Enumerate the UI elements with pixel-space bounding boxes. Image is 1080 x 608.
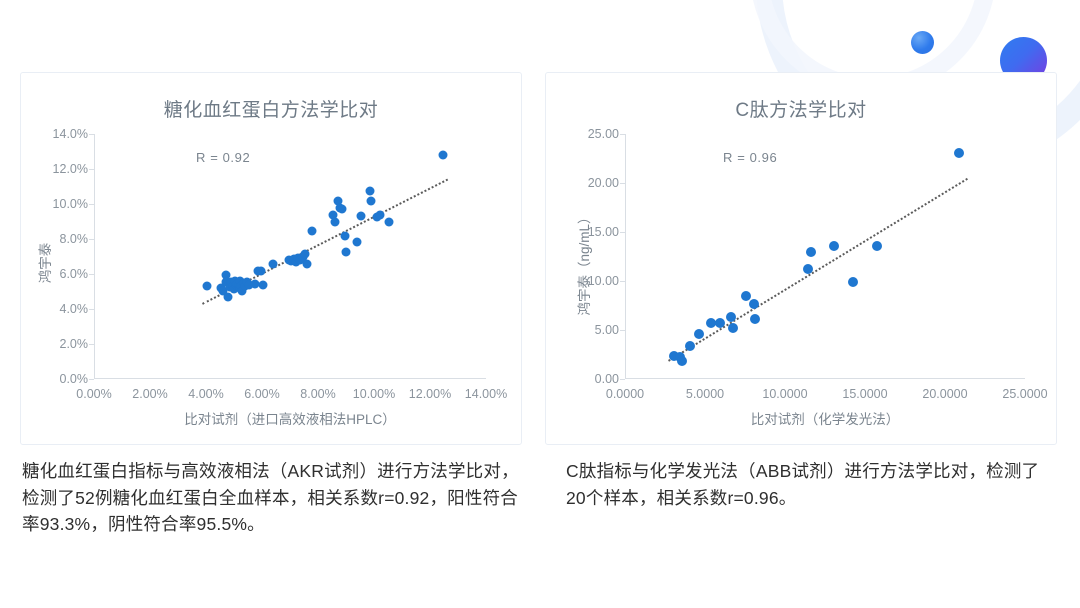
y-axis-tick-label: 12.0% [32, 162, 88, 176]
x-axis-line-hba1c [94, 378, 486, 379]
y-axis-tick-label: 15.00 [563, 225, 619, 239]
x-axis-tick-label: 15.0000 [842, 387, 887, 401]
scatter-point [749, 299, 759, 309]
y-axis-tick-mark [89, 344, 94, 345]
x-axis-tick-label: 2.00% [132, 387, 167, 401]
y-axis-tick-label: 0.00 [563, 372, 619, 386]
y-axis-tick-mark [89, 379, 94, 380]
x-axis-tick-label: 14.00% [465, 387, 507, 401]
y-axis-tick-mark [620, 281, 625, 282]
y-axis-tick-mark [89, 169, 94, 170]
scatter-point [256, 267, 265, 276]
y-axis-tick-label: 2.0% [32, 337, 88, 351]
scatter-point [340, 232, 349, 241]
chart-title-cpeptide: C肽方法学比对 [546, 95, 1056, 122]
scatter-point [385, 218, 394, 227]
scatter-point [872, 241, 882, 251]
scatter-point [330, 218, 339, 227]
scatter-point [706, 318, 716, 328]
scatter-point [308, 227, 317, 236]
scatter-point [685, 341, 695, 351]
scatter-plot-cpeptide [625, 134, 1025, 379]
y-axis-title-cpeptide: 鸿宇泰（ng/mL） [573, 188, 593, 338]
x-axis-tick-label: 10.0000 [762, 387, 807, 401]
scatter-point [223, 292, 232, 301]
y-axis-line-hba1c [94, 134, 95, 379]
y-axis-tick-label: 20.00 [563, 176, 619, 190]
scatter-point [438, 151, 447, 160]
scatter-plot-hba1c [94, 134, 486, 379]
y-axis-tick-mark [89, 204, 94, 205]
scatter-point [203, 282, 212, 291]
x-axis-line-cpeptide [625, 378, 1025, 379]
scatter-point [353, 237, 362, 246]
y-axis-tick-mark [89, 239, 94, 240]
y-axis-tick-mark [89, 309, 94, 310]
blue-circle-icon [911, 31, 934, 54]
scatter-point [728, 323, 738, 333]
y-axis-tick-mark [620, 232, 625, 233]
scatter-point [269, 260, 278, 269]
x-axis-tick-label: 25.0000 [1002, 387, 1047, 401]
y-axis-line-cpeptide [625, 134, 626, 379]
scatter-point [302, 260, 311, 269]
x-axis-tick-label: 5.0000 [686, 387, 724, 401]
x-axis-tick-label: 20.0000 [922, 387, 967, 401]
scatter-point [342, 248, 351, 257]
x-axis-tick-label: 4.00% [188, 387, 223, 401]
scatter-point [367, 196, 376, 205]
y-axis-tick-mark [620, 134, 625, 135]
y-axis-tick-mark [89, 274, 94, 275]
x-axis-title-hba1c: 比对试剂（进口高效液相法HPLC） [94, 408, 486, 428]
y-axis-tick-mark [620, 330, 625, 331]
caption-cpeptide: C肽指标与化学发光法（ABB试剂）进行方法学比对，检测了20个样本，相关系数r=… [566, 458, 1058, 511]
x-axis-tick-label: 0.0000 [606, 387, 644, 401]
y-axis-tick-label: 10.0% [32, 197, 88, 211]
x-axis-tick-label: 6.00% [244, 387, 279, 401]
y-axis-title-hba1c: 鸿宇泰 [34, 213, 54, 313]
scatter-point [301, 249, 310, 258]
chart-title-hba1c: 糖化血红蛋白方法学比对 [21, 95, 521, 122]
scatter-point [365, 186, 374, 195]
scatter-point [726, 312, 736, 322]
scatter-point [357, 212, 366, 221]
scatter-point [803, 264, 813, 274]
x-axis-tick-label: 8.00% [300, 387, 335, 401]
scatter-point [677, 356, 687, 366]
y-axis-tick-label: 25.00 [563, 127, 619, 141]
y-axis-tick-label: 4.0% [32, 302, 88, 316]
y-axis-tick-label: 5.00 [563, 323, 619, 337]
scatter-point [715, 318, 725, 328]
y-axis-tick-mark [620, 183, 625, 184]
x-axis-tick-label: 12.00% [409, 387, 451, 401]
scatter-point [829, 241, 839, 251]
caption-hba1c: 糖化血红蛋白指标与高效液相法（AKR试剂）进行方法学比对，检测了52例糖化血红蛋… [22, 458, 528, 538]
scatter-point [375, 211, 384, 220]
trendline [668, 178, 968, 362]
scatter-point [337, 205, 346, 214]
scatter-point [848, 277, 858, 287]
scatter-point [259, 280, 268, 289]
y-axis-tick-mark [620, 379, 625, 380]
x-axis-tick-label: 10.00% [353, 387, 395, 401]
x-axis-title-cpeptide: 比对试剂（化学发光法） [625, 408, 1025, 428]
x-axis-tick-label: 0.00% [76, 387, 111, 401]
y-axis-tick-label: 14.0% [32, 127, 88, 141]
y-axis-tick-label: 6.0% [32, 267, 88, 281]
y-axis-tick-mark [89, 134, 94, 135]
scatter-point [806, 247, 816, 257]
y-axis-tick-label: 10.00 [563, 274, 619, 288]
y-axis-tick-label: 8.0% [32, 232, 88, 246]
y-axis-tick-label: 0.0% [32, 372, 88, 386]
scatter-point [694, 329, 704, 339]
scatter-point [954, 148, 964, 158]
scatter-point [741, 291, 751, 301]
scatter-point [750, 314, 760, 324]
